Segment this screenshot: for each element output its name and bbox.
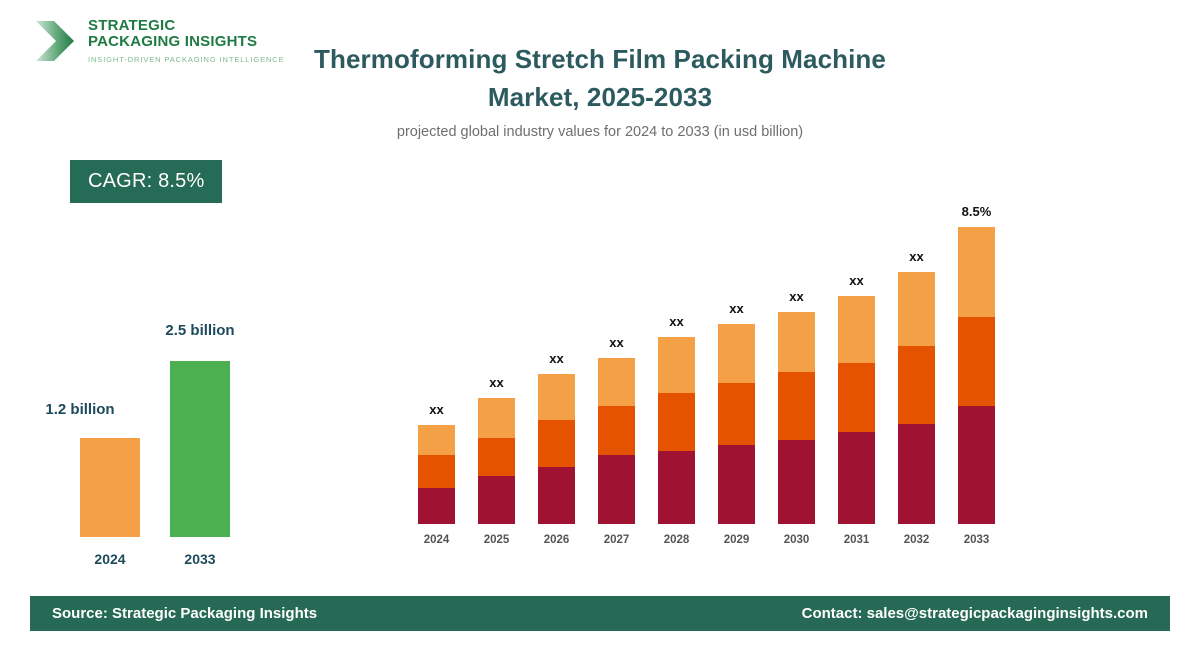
stacked-bar-segment-segment-middle-2029	[718, 383, 755, 445]
stacked-bar-segment-segment-top-2032	[898, 272, 935, 346]
stacked-bar-year-label-2026: 2026	[527, 534, 587, 546]
stacked-bar-segment-segment-bottom-2027	[598, 455, 635, 524]
stacked-bar-2024	[418, 425, 455, 524]
stacked-bar-year-label-2024: 2024	[407, 534, 467, 546]
stacked-forecast-chart: xx2024xx2025xx2026xx2027xx2028xx2029xx20…	[400, 190, 1020, 560]
footer-bar: Source: Strategic Packaging Insights Con…	[30, 596, 1170, 631]
comparison-value-label-2033: 2.5 billion	[120, 322, 280, 339]
stacked-bar-year-label-2025: 2025	[467, 534, 527, 546]
stacked-bar-top-label-2025: xx	[457, 375, 537, 390]
stacked-bar-segment-segment-bottom-2025	[478, 476, 515, 524]
stacked-bar-2026	[538, 374, 575, 524]
brand-line-2: PACKAGING INSIGHTS	[88, 34, 252, 50]
stacked-bar-2025	[478, 398, 515, 524]
stacked-bar-2030	[778, 312, 815, 524]
page-title-line-2: Market, 2025-2033	[250, 78, 950, 116]
stacked-bar-year-label-2027: 2027	[587, 534, 647, 546]
stacked-bar-segment-segment-middle-2030	[778, 372, 815, 440]
stacked-bar-2031	[838, 296, 875, 524]
stacked-bar-segment-segment-top-2030	[778, 312, 815, 372]
stacked-bar-segment-segment-bottom-2030	[778, 440, 815, 524]
stacked-bar-segment-segment-top-2033	[958, 227, 995, 317]
comparison-value-label-2024: 1.2 billion	[0, 401, 160, 418]
comparison-year-label-2033: 2033	[170, 551, 230, 567]
comparison-chart: 1.2 billion 2024 2.5 billion 2033	[0, 300, 320, 580]
stacked-bar-segment-segment-top-2028	[658, 337, 695, 393]
stacked-bar-2028	[658, 337, 695, 524]
chevron-right-logo-icon	[32, 16, 78, 66]
stacked-bar-segment-segment-middle-2026	[538, 420, 575, 467]
stacked-bar-segment-segment-top-2025	[478, 398, 515, 438]
footer-contact: Contact: sales@strategicpackaginginsight…	[802, 596, 1148, 631]
brand-logo: STRATEGIC PACKAGING INSIGHTS INSIGHT-DRI…	[32, 14, 252, 72]
stacked-bar-year-label-2028: 2028	[647, 534, 707, 546]
stacked-bar-segment-segment-bottom-2031	[838, 432, 875, 524]
stacked-bar-segment-segment-bottom-2029	[718, 445, 755, 524]
stacked-bar-top-label-2033: 8.5%	[937, 204, 1017, 219]
stacked-bar-2033	[958, 227, 995, 524]
stacked-bar-top-label-2032: xx	[877, 249, 957, 264]
stacked-bar-year-label-2031: 2031	[827, 534, 887, 546]
comparison-bar-2024	[80, 438, 140, 537]
stacked-bar-year-label-2032: 2032	[887, 534, 947, 546]
brand-tagline: INSIGHT-DRIVEN PACKAGING INTELLIGENCE	[88, 55, 252, 64]
comparison-bar-2033-fill	[170, 361, 230, 537]
stacked-bar-segment-segment-bottom-2028	[658, 451, 695, 524]
stacked-bar-top-label-2031: xx	[817, 273, 897, 288]
stacked-bar-segment-segment-middle-2031	[838, 363, 875, 432]
stacked-bar-top-label-2028: xx	[637, 314, 717, 329]
stacked-bar-top-label-2024: xx	[397, 402, 477, 417]
stacked-bar-2029	[718, 324, 755, 524]
page-subtitle: projected global industry values for 202…	[250, 124, 950, 140]
stacked-bar-segment-segment-bottom-2026	[538, 467, 575, 524]
stacked-bar-segment-segment-middle-2033	[958, 317, 995, 406]
stacked-bar-segment-segment-middle-2025	[478, 438, 515, 476]
stacked-bar-segment-segment-top-2026	[538, 374, 575, 420]
stacked-bar-segment-segment-middle-2032	[898, 346, 935, 424]
stacked-bar-year-label-2029: 2029	[707, 534, 767, 546]
comparison-bar-2024-fill	[80, 438, 140, 537]
stacked-bar-top-label-2026: xx	[517, 351, 597, 366]
stacked-bar-2027	[598, 358, 635, 524]
stacked-bar-segment-segment-middle-2027	[598, 406, 635, 455]
stacked-bar-2032	[898, 272, 935, 524]
brand-line-1: STRATEGIC	[88, 18, 252, 34]
stacked-bar-year-label-2033: 2033	[947, 534, 1007, 546]
stacked-bar-segment-segment-top-2029	[718, 324, 755, 383]
stacked-bar-segment-segment-bottom-2032	[898, 424, 935, 524]
stacked-bar-segment-segment-middle-2024	[418, 455, 455, 488]
comparison-year-label-2024: 2024	[80, 551, 140, 567]
stacked-bar-top-label-2027: xx	[577, 335, 657, 350]
page-title-line-1: Thermoforming Stretch Film Packing Machi…	[250, 40, 950, 78]
stacked-bar-segment-segment-top-2024	[418, 425, 455, 455]
stacked-bar-segment-segment-top-2031	[838, 296, 875, 363]
stacked-bar-segment-segment-bottom-2024	[418, 488, 455, 524]
comparison-bar-2033	[170, 361, 230, 537]
page-title-block: Thermoforming Stretch Film Packing Machi…	[250, 40, 950, 140]
stacked-bar-segment-segment-bottom-2033	[958, 406, 995, 524]
stacked-bar-segment-segment-middle-2028	[658, 393, 695, 451]
brand-wordmark: STRATEGIC PACKAGING INSIGHTS INSIGHT-DRI…	[88, 14, 252, 64]
stacked-bar-top-label-2030: xx	[757, 289, 837, 304]
footer-source: Source: Strategic Packaging Insights	[52, 596, 317, 631]
stacked-bar-segment-segment-top-2027	[598, 358, 635, 406]
stacked-bar-year-label-2030: 2030	[767, 534, 827, 546]
chart-infographic-page: STRATEGIC PACKAGING INSIGHTS INSIGHT-DRI…	[0, 0, 1200, 650]
cagr-badge: CAGR: 8.5%	[70, 160, 222, 203]
